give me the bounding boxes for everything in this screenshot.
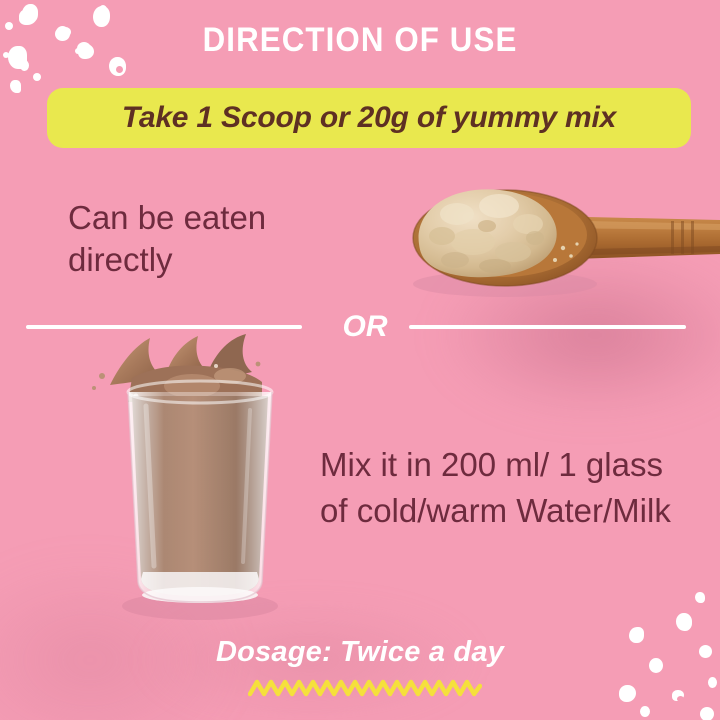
- instruction-banner: Take 1 Scoop or 20g of yummy mix: [47, 88, 691, 148]
- instruction-banner-text: Take 1 Scoop or 20g of yummy mix: [122, 101, 616, 135]
- confetti-dot: [619, 685, 636, 702]
- confetti-dot: [8, 46, 27, 69]
- confetti-dot: [22, 4, 38, 23]
- confetti-dot: [695, 592, 705, 603]
- confetti-dot: [672, 690, 684, 701]
- confetti-dot: [99, 5, 107, 14]
- confetti-dot: [20, 60, 29, 71]
- dosage-text: Dosage: Twice a day: [0, 636, 720, 669]
- confetti-dot: [109, 57, 126, 76]
- chocolate-milkshake-glass-image: [80, 330, 320, 620]
- confetti-dot: [700, 707, 714, 720]
- confetti-dot: [116, 66, 123, 73]
- confetti-dot: [5, 22, 13, 30]
- confetti-dot: [708, 677, 717, 688]
- yellow-zigzag-underline: [248, 676, 482, 702]
- divider-line-left: [26, 325, 302, 329]
- confetti-dot: [33, 73, 41, 81]
- divider-label: OR: [330, 305, 400, 349]
- confetti-dot: [3, 52, 9, 58]
- option-left-text: Can be eaten directly: [68, 197, 368, 281]
- confetti-dot: [677, 696, 684, 702]
- divider-line-right: [409, 325, 686, 329]
- confetti-dot: [676, 613, 692, 631]
- confetti-dot: [10, 80, 21, 93]
- wooden-spoon-with-powder-image: [395, 176, 720, 302]
- option-right-text: Mix it in 200 ml/ 1 glass of cold/warm W…: [320, 442, 680, 533]
- direction-of-use-infographic: DIRECTION OF USE Take 1 Scoop or 20g of …: [0, 0, 720, 720]
- page-title: DIRECTION OF USE: [29, 22, 691, 59]
- confetti-dot: [640, 706, 650, 717]
